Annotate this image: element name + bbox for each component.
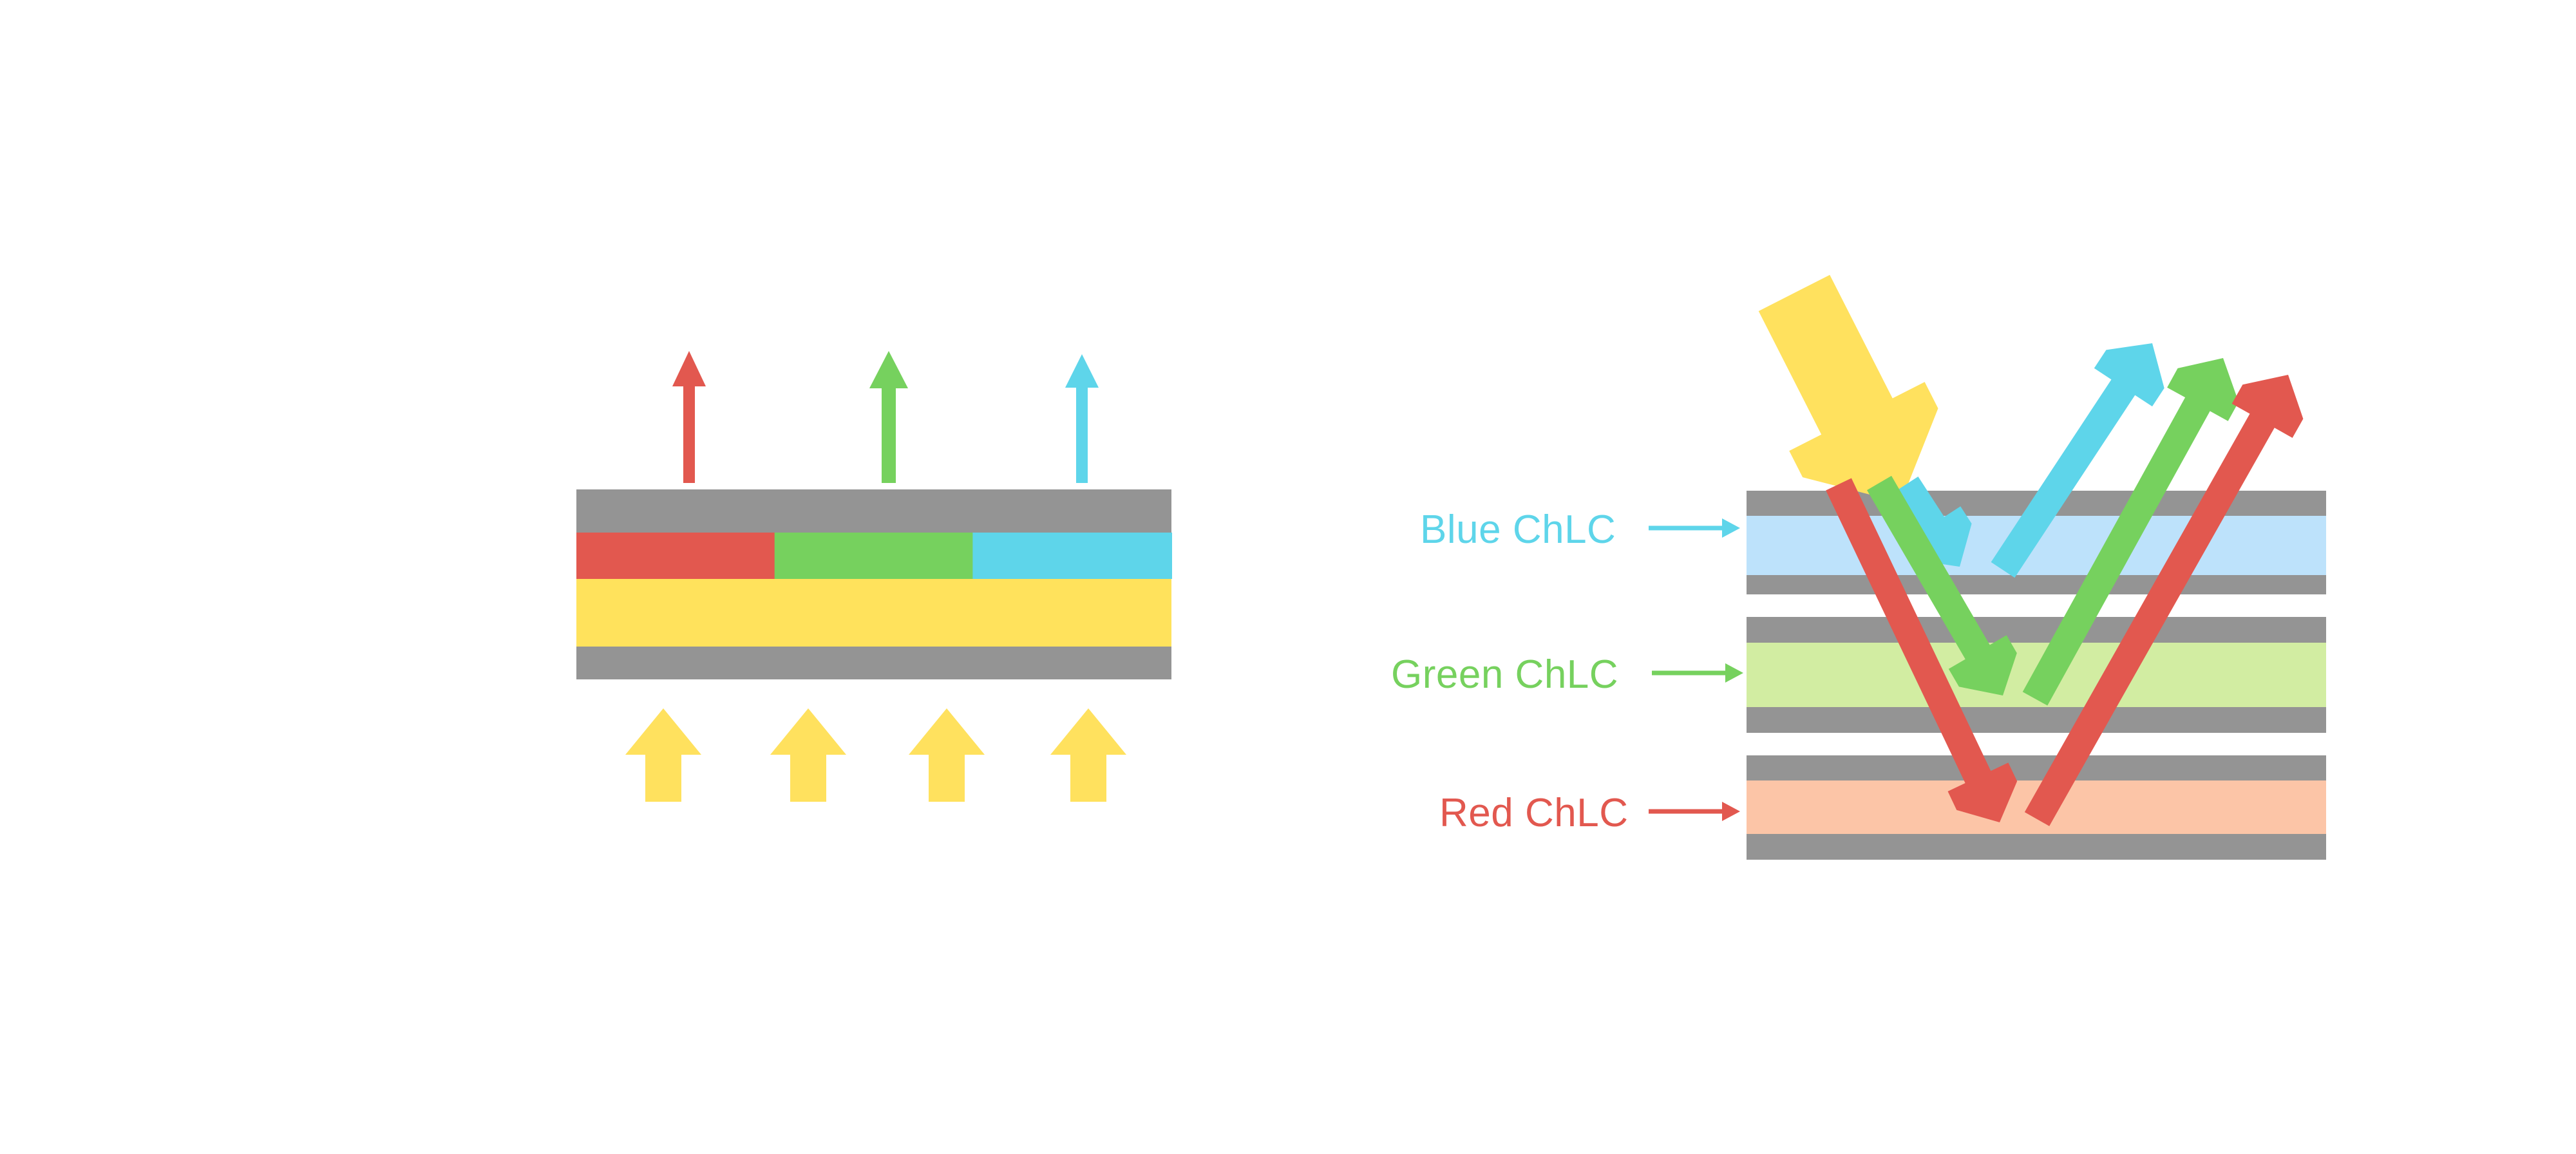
blue-chlc-label-leader-head — [1722, 518, 1740, 538]
green-cell-bottom-electrode — [1747, 707, 2326, 733]
blue-chlc-label: Blue ChLC — [1420, 507, 1616, 553]
blue-chlc-label-leader — [1649, 518, 1740, 538]
red-cell-top-electrode — [1747, 755, 2326, 780]
green-cell-top-electrode — [1747, 617, 2326, 643]
green-chlc-label-leader — [1652, 663, 1743, 683]
blue-cell-bottom-electrode — [1747, 575, 2326, 594]
right-panel-graphics — [0, 0, 2576, 1154]
incident-white-light-arrow — [1759, 275, 1938, 502]
red-chlc-label-leader — [1649, 802, 1740, 821]
red-cell-bottom-electrode — [1747, 834, 2326, 860]
diagram-canvas: Blue ChLC Green ChLC Red ChLC — [0, 0, 2576, 1154]
green-chlc-label-leader-head — [1725, 663, 1743, 683]
green-chlc-label: Green ChLC — [1391, 652, 1618, 697]
red-chlc-label-leader-head — [1722, 802, 1740, 821]
red-chlc-label: Red ChLC — [1439, 790, 1628, 836]
